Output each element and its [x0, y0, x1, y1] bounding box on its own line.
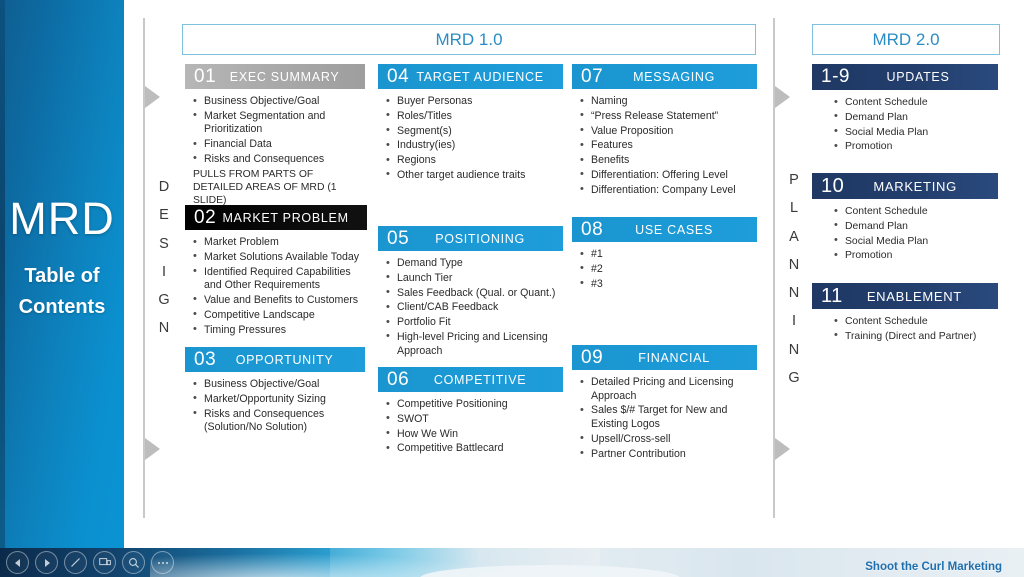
- section-header-09: 09FINANCIAL: [572, 345, 757, 370]
- list-item: Regions: [384, 154, 561, 168]
- list-item: SWOT: [384, 413, 561, 427]
- section-number: 03: [194, 349, 216, 371]
- list-item: “Press Release Statement”: [578, 110, 755, 124]
- section-label: ENABLEMENT: [843, 289, 994, 304]
- page-subtitle-line-2: Contents: [0, 292, 124, 323]
- list-item: Social Media Plan: [832, 126, 996, 140]
- section-number: 10: [821, 175, 844, 198]
- list-item: Other target audience traits: [384, 169, 561, 183]
- phase-rail-planning: PLANNING: [770, 18, 806, 518]
- section-label: COMPETITIVE: [409, 373, 559, 387]
- list-item: Content Schedule: [832, 315, 996, 329]
- section-block-04: 04TARGET AUDIENCEBuyer PersonasRoles/Tit…: [378, 64, 563, 184]
- list-item: Competitive Battlecard: [384, 442, 561, 456]
- section-header-03: 03OPPORTUNITY: [185, 347, 365, 372]
- list-item: Value Proposition: [578, 125, 755, 139]
- list-item: Risks and Consequences: [191, 153, 363, 167]
- section-bullet-list: Business Objective/GoalMarket Segmentati…: [191, 95, 363, 167]
- list-item: Financial Data: [191, 138, 363, 152]
- section-header-10: 10MARKETING: [812, 173, 998, 199]
- phase-letter: L: [782, 194, 806, 222]
- list-item: Content Schedule: [832, 205, 996, 219]
- section-body: Business Objective/GoalMarket Segmentati…: [185, 89, 365, 207]
- triangle-right-icon: [775, 86, 790, 108]
- section-body: Detailed Pricing and Licensing ApproachS…: [572, 370, 757, 461]
- section-header-11: 11ENABLEMENT: [812, 283, 998, 309]
- section-number: 1-9: [821, 66, 850, 88]
- list-item: Business Objective/Goal: [191, 378, 363, 392]
- slide-title-panel: MRD Table of Contents: [0, 0, 124, 548]
- list-item: Market/Opportunity Sizing: [191, 393, 363, 407]
- list-item: How We Win: [384, 428, 561, 442]
- list-item: Demand Type: [384, 257, 561, 271]
- phase-letter: I: [152, 258, 176, 286]
- list-item: Promotion: [832, 140, 996, 154]
- section-block-10: 10MARKETINGContent ScheduleDemand PlanSo…: [812, 173, 998, 264]
- list-item: Training (Direct and Partner): [832, 330, 996, 344]
- phase-letter: S: [152, 230, 176, 258]
- pen-tool-button[interactable]: [64, 551, 87, 574]
- previous-slide-button[interactable]: [6, 551, 29, 574]
- section-block-03: 03OPPORTUNITYBusiness Objective/GoalMark…: [185, 347, 365, 436]
- all-slides-button[interactable]: [93, 551, 116, 574]
- section-bullet-list: Buyer PersonasRoles/TitlesSegment(s)Indu…: [384, 95, 561, 183]
- list-item: Partner Contribution: [578, 448, 755, 462]
- list-item: Social Media Plan: [832, 235, 996, 249]
- list-item: Market Segmentation and Prioritization: [191, 110, 363, 137]
- section-block-09: 09FINANCIALDetailed Pricing and Licensin…: [572, 345, 757, 462]
- list-item: Timing Pressures: [191, 324, 365, 338]
- section-header-06: 06COMPETITIVE: [378, 367, 563, 392]
- list-item: Segment(s): [384, 125, 561, 139]
- phase-letter: D: [152, 173, 176, 201]
- phase-letter: I: [782, 307, 806, 335]
- phase-letter: P: [782, 166, 806, 194]
- section-label: FINANCIAL: [603, 351, 753, 365]
- list-item: Demand Plan: [832, 111, 996, 125]
- section-bullet-list: Content ScheduleDemand PlanSocial Media …: [832, 96, 996, 154]
- section-bullet-list: Detailed Pricing and Licensing ApproachS…: [578, 376, 755, 461]
- list-item: Portfolio Fit: [384, 316, 561, 330]
- page-title: MRD: [0, 196, 124, 241]
- section-header-07: 07MESSAGING: [572, 64, 757, 89]
- list-item: Value and Benefits to Customers: [191, 294, 365, 308]
- section-header-02: 02MARKET PROBLEM: [185, 205, 367, 230]
- list-item: Business Objective/Goal: [191, 95, 363, 109]
- zoom-tool-button[interactable]: [122, 551, 145, 574]
- section-number: 08: [581, 219, 603, 241]
- section-header-04: 04TARGET AUDIENCE: [378, 64, 563, 89]
- section-block-02: 02MARKET PROBLEMMarket ProblemMarket Sol…: [185, 205, 367, 338]
- section-block-11: 11ENABLEMENTContent ScheduleTraining (Di…: [812, 283, 998, 345]
- section-body: #1#2#3: [572, 242, 757, 291]
- section-bullet-list: Demand TypeLaunch TierSales Feedback (Qu…: [384, 257, 561, 358]
- triangle-right-icon: [775, 438, 790, 460]
- section-body: Content ScheduleTraining (Direct and Par…: [812, 309, 998, 343]
- triangle-right-icon: [145, 86, 160, 108]
- section-title-mrd-2: MRD 2.0: [812, 24, 1000, 55]
- phase-letter: N: [782, 336, 806, 364]
- phase-letter: N: [782, 279, 806, 307]
- phase-letter: E: [152, 201, 176, 229]
- list-item: Industry(ies): [384, 139, 561, 153]
- section-body: Content ScheduleDemand PlanSocial Media …: [812, 199, 998, 263]
- section-number: 05: [387, 228, 409, 250]
- list-item: Market Problem: [191, 236, 365, 250]
- phase-letter: G: [152, 286, 176, 314]
- section-block-1-9: 1-9UPDATESContent ScheduleDemand PlanSoc…: [812, 64, 998, 155]
- list-item: Sales Feedback (Qual. or Quant.): [384, 287, 561, 301]
- section-title-mrd-1-text: MRD 1.0: [435, 30, 502, 50]
- phase-letter: A: [782, 223, 806, 251]
- section-bullet-list: Business Objective/GoalMarket/Opportunit…: [191, 378, 363, 435]
- list-item: Roles/Titles: [384, 110, 561, 124]
- section-bullet-list: Market ProblemMarket Solutions Available…: [191, 236, 365, 337]
- list-item: Upsell/Cross-sell: [578, 433, 755, 447]
- list-item: Launch Tier: [384, 272, 561, 286]
- section-number: 01: [194, 66, 216, 88]
- section-label: UPDATES: [850, 70, 994, 84]
- section-bullet-list: Content ScheduleTraining (Direct and Par…: [832, 315, 996, 343]
- section-header-05: 05POSITIONING: [378, 226, 563, 251]
- section-body: Competitive PositioningSWOTHow We WinCom…: [378, 392, 563, 456]
- phase-letter: G: [782, 364, 806, 392]
- list-item: Benefits: [578, 154, 755, 168]
- list-item: Buyer Personas: [384, 95, 561, 109]
- section-header-1-9: 1-9UPDATES: [812, 64, 998, 90]
- section-body: Naming“Press Release Statement”Value Pro…: [572, 89, 757, 197]
- list-item: Naming: [578, 95, 755, 109]
- section-bullet-list: Content ScheduleDemand PlanSocial Media …: [832, 205, 996, 263]
- section-label: POSITIONING: [409, 232, 559, 246]
- triangle-right-icon: [145, 438, 160, 460]
- section-header-08: 08USE CASES: [572, 217, 757, 242]
- section-block-08: 08USE CASES#1#2#3: [572, 217, 757, 292]
- section-number: 11: [821, 285, 843, 308]
- list-item: Promotion: [832, 249, 996, 263]
- section-bullet-list: Competitive PositioningSWOTHow We WinCom…: [384, 398, 561, 456]
- list-item: Market Solutions Available Today: [191, 251, 365, 265]
- list-item: Risks and Consequences (Solution/No Solu…: [191, 408, 363, 435]
- list-item: Sales $/# Target for New and Existing Lo…: [578, 404, 755, 431]
- list-item: Detailed Pricing and Licensing Approach: [578, 376, 755, 403]
- phase-rail-design: DESIGN: [140, 18, 176, 518]
- section-block-01: 01EXEC SUMMARYBusiness Objective/GoalMar…: [185, 64, 365, 207]
- section-number: 07: [581, 66, 603, 88]
- more-options-button[interactable]: [151, 551, 174, 574]
- section-block-05: 05POSITIONINGDemand TypeLaunch TierSales…: [378, 226, 563, 359]
- section-label: USE CASES: [603, 223, 753, 237]
- list-item: #1: [578, 248, 755, 262]
- list-item: Competitive Positioning: [384, 398, 561, 412]
- section-block-06: 06COMPETITIVECompetitive PositioningSWOT…: [378, 367, 563, 457]
- list-item: Differentiation: Offering Level: [578, 169, 755, 183]
- list-item: Competitive Landscape: [191, 309, 365, 323]
- list-item: High-level Pricing and Licensing Approac…: [384, 331, 561, 358]
- section-title-mrd-1: MRD 1.0: [182, 24, 756, 55]
- section-label: TARGET AUDIENCE: [409, 70, 559, 84]
- list-item: Demand Plan: [832, 220, 996, 234]
- section-label: MESSAGING: [603, 70, 753, 84]
- presentation-toolbar[interactable]: [6, 551, 174, 574]
- section-label: MARKETING: [844, 179, 994, 194]
- list-item: Identified Required Capabilities and Oth…: [191, 266, 365, 293]
- section-label: MARKET PROBLEM: [216, 211, 363, 225]
- section-number: 04: [387, 66, 409, 88]
- phase-letter: N: [152, 314, 176, 342]
- section-body: Market ProblemMarket Solutions Available…: [185, 230, 367, 337]
- section-bullet-list: Naming“Press Release Statement”Value Pro…: [578, 95, 755, 197]
- phase-label-planning: PLANNING: [782, 166, 806, 392]
- phase-letter: N: [782, 251, 806, 279]
- list-item: Content Schedule: [832, 96, 996, 110]
- list-item: #2: [578, 263, 755, 277]
- section-label: EXEC SUMMARY: [216, 70, 361, 84]
- list-item: Differentiation: Company Level: [578, 184, 755, 198]
- section-label: OPPORTUNITY: [216, 353, 361, 367]
- next-slide-button[interactable]: [35, 551, 58, 574]
- section-note: PULLS FROM PARTS OF DETAILED AREAS OF MR…: [191, 168, 363, 208]
- page-subtitle-line-1: Table of: [0, 261, 124, 292]
- list-item: #3: [578, 278, 755, 292]
- list-item: Client/CAB Feedback: [384, 301, 561, 315]
- section-header-01: 01EXEC SUMMARY: [185, 64, 365, 89]
- section-body: Business Objective/GoalMarket/Opportunit…: [185, 372, 365, 435]
- section-number: 09: [581, 347, 603, 369]
- section-body: Content ScheduleDemand PlanSocial Media …: [812, 90, 998, 154]
- section-block-07: 07MESSAGINGNaming“Press Release Statemen…: [572, 64, 757, 198]
- presentation-slide: MRD Table of Contents DESIGN PLANNING MR…: [0, 0, 1024, 577]
- section-number: 02: [194, 207, 216, 229]
- section-number: 06: [387, 369, 409, 391]
- section-bullet-list: #1#2#3: [578, 248, 755, 291]
- phase-label-design: DESIGN: [152, 173, 176, 343]
- section-body: Buyer PersonasRoles/TitlesSegment(s)Indu…: [378, 89, 563, 183]
- footer-brand: Shoot the Curl Marketing: [865, 561, 1002, 573]
- list-item: Features: [578, 139, 755, 153]
- section-body: Demand TypeLaunch TierSales Feedback (Qu…: [378, 251, 563, 358]
- section-title-mrd-2-text: MRD 2.0: [872, 30, 939, 50]
